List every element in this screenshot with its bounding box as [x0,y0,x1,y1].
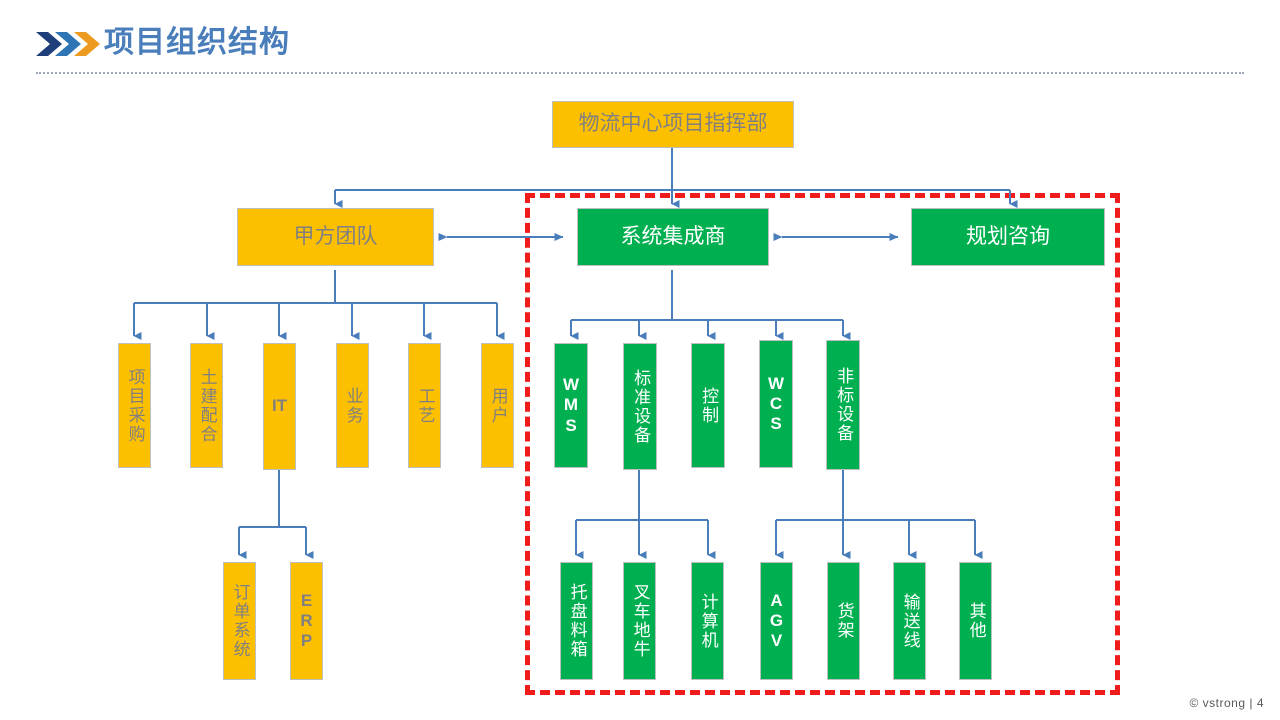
node-nonstd-label: 非标设备 [834,367,852,443]
node-racking[interactable]: 货架 [827,562,860,680]
node-computer-label: 计算机 [698,593,716,650]
node-party-a[interactable]: 甲方团队 [237,208,434,266]
node-root[interactable]: 物流中心项目指挥部 [552,101,794,148]
node-business[interactable]: 业务 [336,343,369,468]
node-control[interactable]: 控制 [691,343,725,468]
node-std-equip-label: 标准设备 [631,369,649,445]
node-party-a-label: 甲方团队 [294,226,378,249]
node-std-equip[interactable]: 标准设备 [623,343,657,470]
node-other[interactable]: 其他 [959,562,992,680]
node-other-label: 其他 [966,602,984,640]
node-order-sys-label: 订单系统 [230,583,248,659]
node-forklift-label: 叉车地牛 [630,583,648,659]
node-wms-label: W M S [563,375,579,435]
node-forklift[interactable]: 叉车地牛 [623,562,656,680]
node-pallet-bin-label: 托盘料箱 [567,583,585,659]
slide-canvas: 项目组织结构 [0,0,1280,720]
node-it[interactable]: IT [263,343,296,470]
node-integrator[interactable]: 系统集成商 [577,208,769,266]
node-procurement-label: 项目采购 [125,368,143,444]
node-procurement[interactable]: 项目采购 [118,343,151,468]
node-agv-label: A G V [770,591,783,651]
chevron-triple-icon [36,28,102,60]
node-wcs-label: W C S [768,374,784,434]
node-pallet-bin[interactable]: 托盘料箱 [560,562,593,680]
node-conveyor[interactable]: 输送线 [893,562,926,680]
node-user[interactable]: 用户 [481,343,514,468]
node-order-sys[interactable]: 订单系统 [223,562,256,680]
node-process-label: 工艺 [415,387,433,425]
node-computer[interactable]: 计算机 [691,562,724,680]
node-integrator-label: 系统集成商 [621,226,726,249]
header-divider [36,72,1244,74]
node-consulting-label: 规划咨询 [966,226,1050,249]
node-root-label: 物流中心项目指挥部 [579,113,768,136]
node-user-label: 用户 [488,387,506,425]
node-control-label: 控制 [699,387,717,425]
node-racking-label: 货架 [834,602,852,640]
node-business-label: 业务 [343,387,361,425]
system-integrator-scope-boundary [525,193,1120,695]
node-conveyor-label: 输送线 [900,593,918,650]
node-erp-label: E R P [300,591,312,651]
node-nonstd[interactable]: 非标设备 [826,340,860,470]
node-wcs[interactable]: W C S [759,340,793,468]
node-it-label: IT [272,396,287,416]
node-consulting[interactable]: 规划咨询 [911,208,1105,266]
node-erp[interactable]: E R P [290,562,323,680]
node-civil-label: 土建配合 [197,368,215,444]
node-process[interactable]: 工艺 [408,343,441,468]
page-title: 项目组织结构 [104,24,290,62]
node-agv[interactable]: A G V [760,562,793,680]
footer-credit: © vstrong | 4 [1190,696,1265,710]
node-wms[interactable]: W M S [554,343,588,468]
node-civil[interactable]: 土建配合 [190,343,223,468]
